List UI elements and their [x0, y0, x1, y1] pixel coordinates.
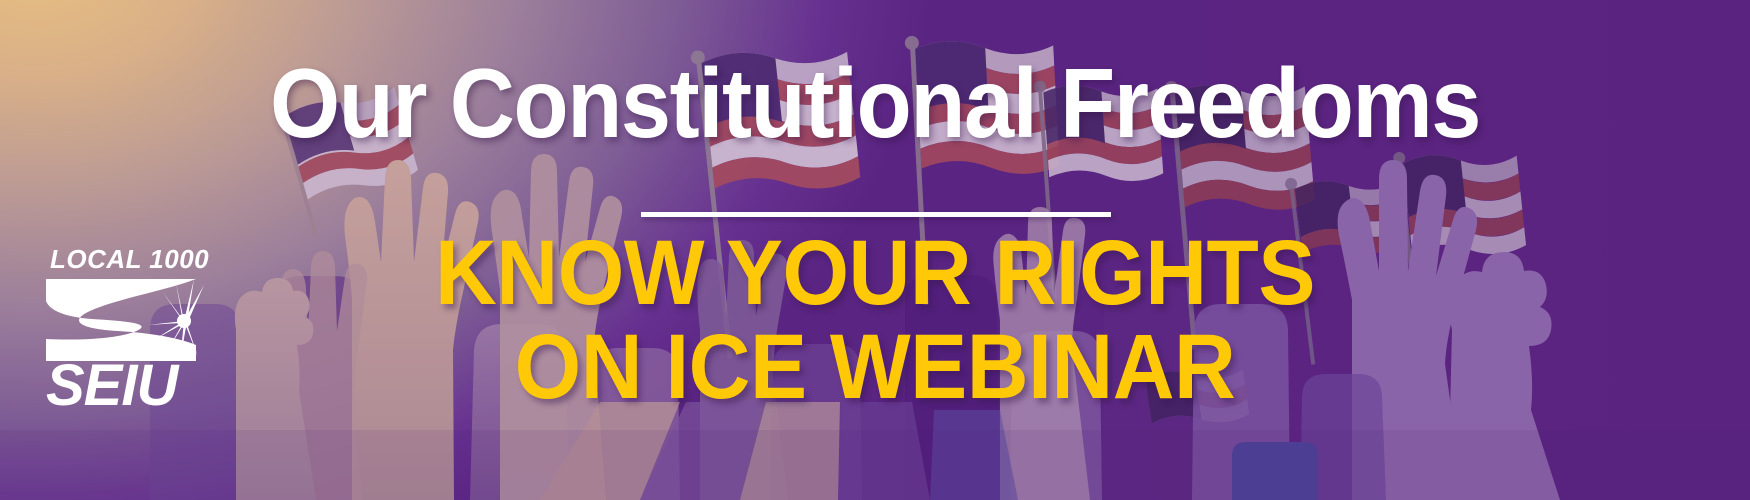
banner-content: LOCAL 1000	[0, 0, 1750, 500]
subtitle-line-2: ON ICE WEBINAR	[61, 322, 1689, 412]
subtitle-line-1: KNOW YOUR RIGHTS	[435, 222, 1315, 324]
page-title: Our Constitutional Freedoms	[70, 54, 1680, 152]
title-divider	[641, 212, 1111, 217]
subtitle: KNOW YOUR RIGHTS ON ICE WEBINAR	[61, 228, 1689, 412]
webinar-banner: LOCAL 1000	[0, 0, 1750, 500]
